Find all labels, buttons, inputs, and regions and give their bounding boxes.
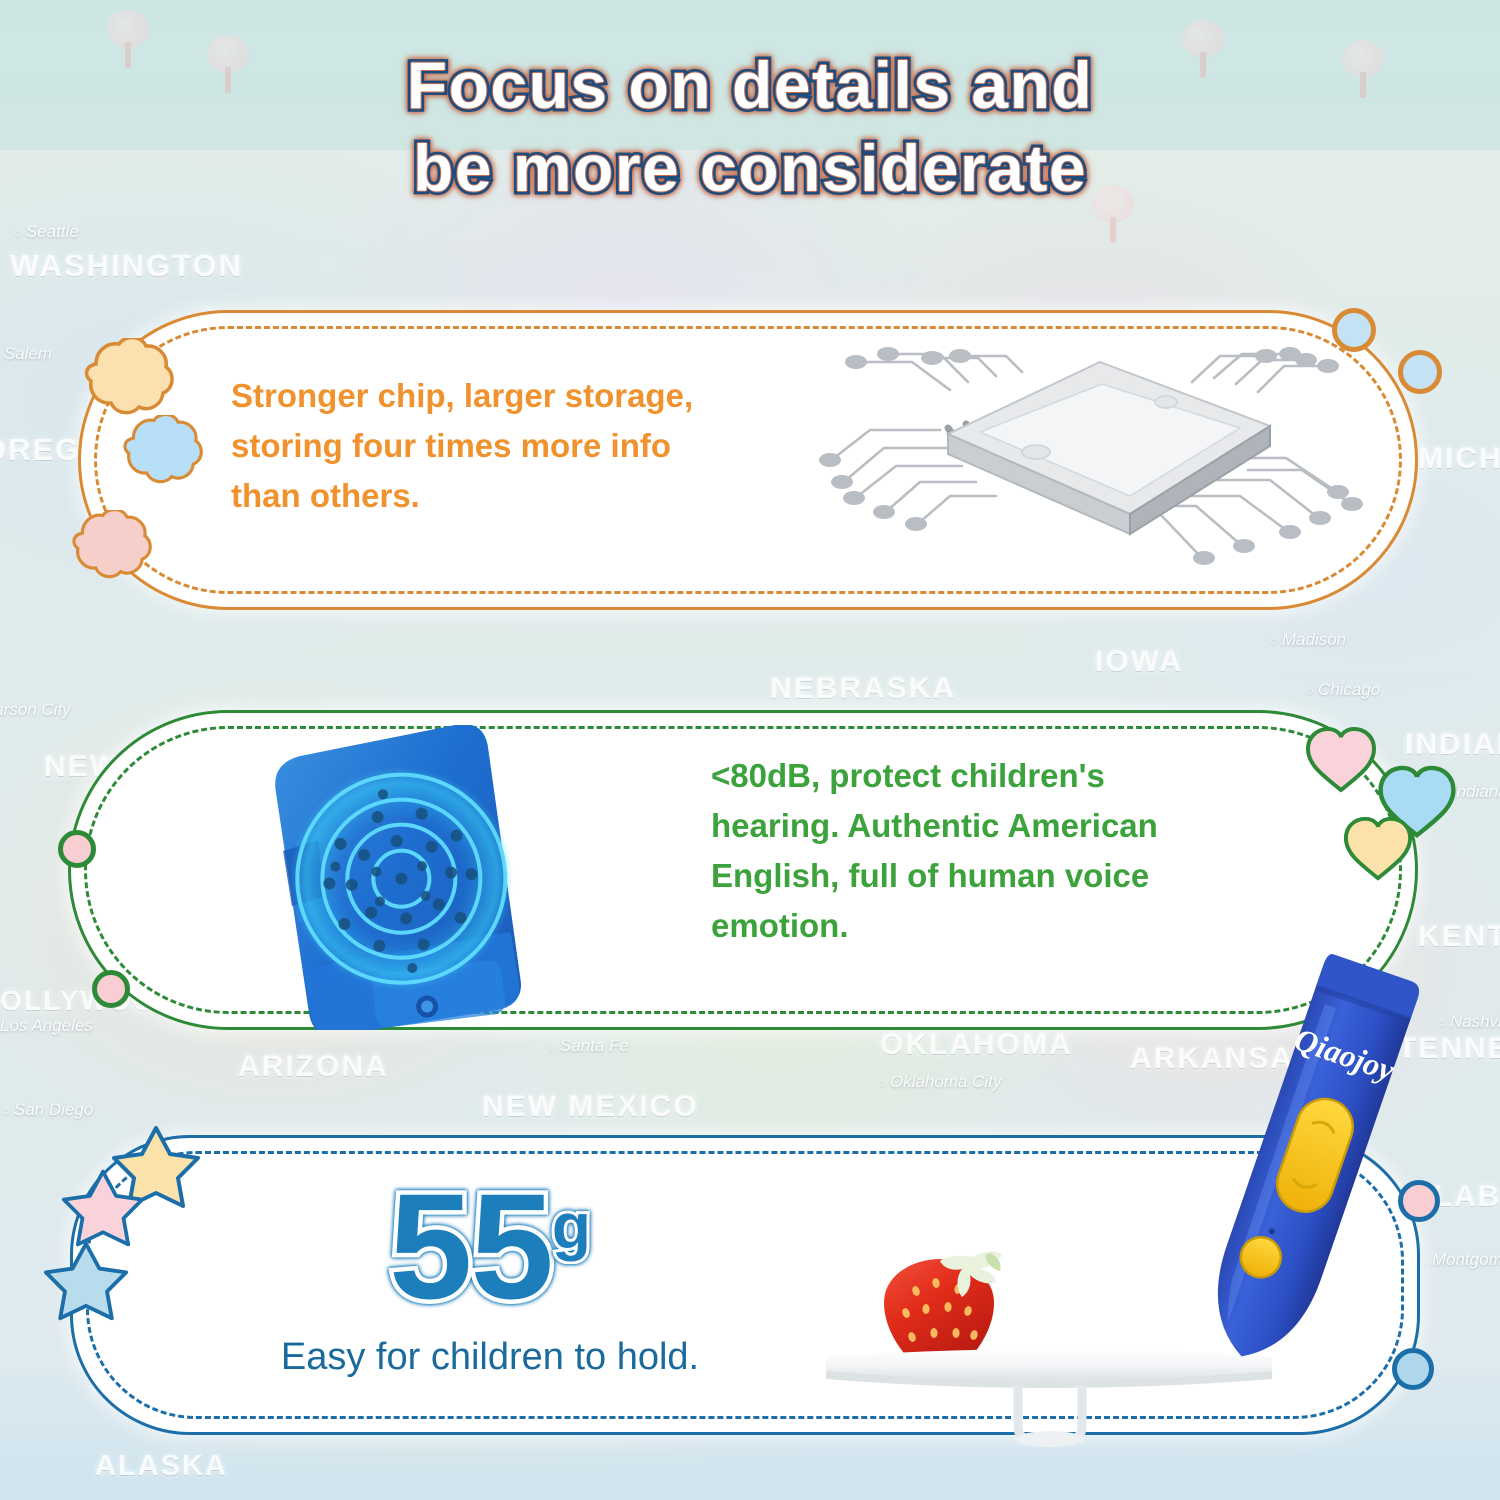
reading-pen-image: Qiaojoy (1175, 945, 1425, 1385)
weight-number: 55 (389, 1175, 552, 1318)
weight-display: 55g Easy for children to hold. (210, 1175, 770, 1379)
page-title-line-2: be more considerate (0, 127, 1500, 210)
feature-text-speaker: <80dB, protect children's hearing. Authe… (711, 751, 1158, 952)
weight-unit: g (552, 1189, 591, 1263)
weight-caption: Easy for children to hold. (210, 1336, 770, 1379)
feature-text-chip: Stronger chip, larger storage, storing f… (231, 371, 693, 521)
page-title-line-1: Focus on details and (0, 44, 1500, 127)
microchip-image (800, 330, 1420, 595)
speaker-module-image (245, 725, 585, 1030)
page-title: Focus on details and be more considerate (0, 44, 1500, 210)
